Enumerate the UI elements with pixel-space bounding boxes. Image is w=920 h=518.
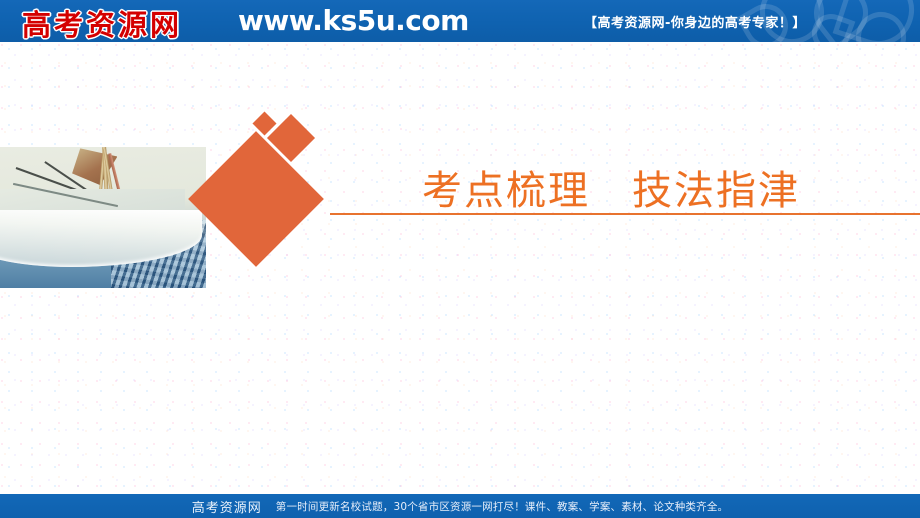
diamond-large bbox=[188, 131, 324, 267]
site-tagline: 【高考资源网-你身边的高考专家！】 bbox=[584, 12, 806, 31]
paisley-swirl-icon bbox=[849, 5, 913, 42]
site-footer-banner: 高考资源网 第一时间更新名校试题，30个省市区资源一网打尽！课件、教案、学案、素… bbox=[0, 494, 920, 518]
site-url-text: www.ks5u.com bbox=[238, 4, 469, 37]
paisley-swirl-icon bbox=[803, 0, 879, 42]
paisley-swirl-icon bbox=[833, 0, 920, 42]
site-logo-chinese: 高考资源网 bbox=[22, 2, 182, 42]
page-title: 考点梳理 技法指津 bbox=[422, 158, 800, 216]
footer-note-text: 第一时间更新名校试题，30个省市区资源一网打尽！课件、教案、学案、素材、论文种类… bbox=[276, 499, 728, 514]
footer-brand-text: 高考资源网 bbox=[192, 497, 262, 516]
paisley-swirl-icon bbox=[807, 9, 856, 42]
slide-canvas: 高考资源网 www.ks5u.com 【高考资源网-你身边的高考专家！】 考点梳… bbox=[0, 0, 920, 518]
site-header-banner: 高考资源网 www.ks5u.com 【高考资源网-你身边的高考专家！】 bbox=[0, 0, 920, 42]
sailboat-photo bbox=[0, 147, 206, 288]
